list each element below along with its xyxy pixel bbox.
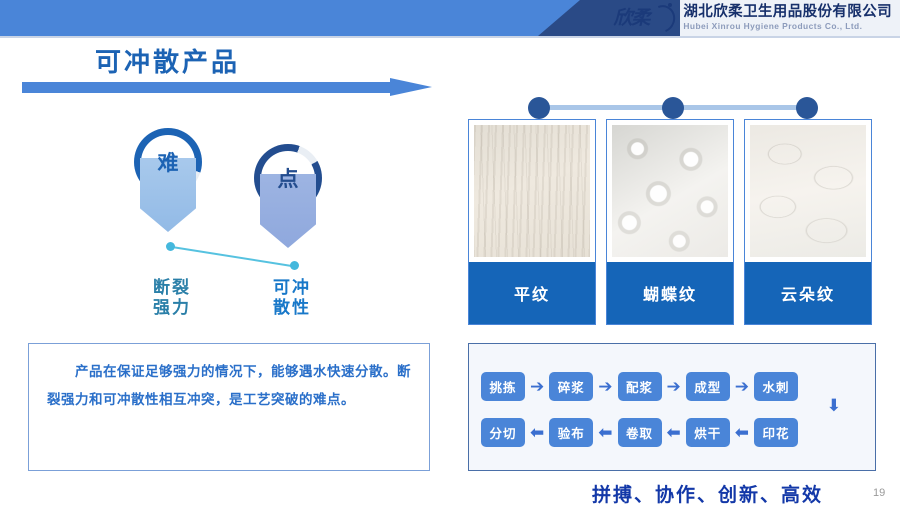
flow-node: 烘干 [686, 418, 730, 447]
label-line-1: 可冲 [248, 278, 336, 298]
flow-node: 碎浆 [549, 372, 593, 401]
flow-row-bottom: 分切 ⬅ 验布 ⬅ 卷取 ⬅ 烘干 ⬅ 印花 [481, 418, 798, 447]
fabric-photo [474, 125, 590, 257]
flow-node: 配浆 [618, 372, 662, 401]
connector-node-1 [528, 97, 550, 119]
slide: 欣柔 湖北欣柔卫生用品股份有限公司 Hubei Xinrou Hygiene P… [0, 0, 900, 510]
card-caption: 云朵纹 [745, 262, 871, 324]
product-card[interactable]: 云朵纹 [744, 119, 872, 325]
arrow-right-icon: ➔ [530, 378, 544, 395]
fabric-photo [750, 125, 866, 257]
flow-row-top: 挑拣 ➔ 碎浆 ➔ 配浆 ➔ 成型 ➔ 水刺 [481, 372, 798, 401]
badge-char-dian: 点 [254, 144, 322, 212]
connector-dot-right [290, 261, 299, 270]
connector-dot-left [166, 242, 175, 251]
company-name-cn: 湖北欣柔卫生用品股份有限公司 [683, 5, 892, 20]
logo-dot-icon [668, 3, 672, 7]
label-line-2: 散性 [248, 298, 336, 318]
page-title: 可冲散产品 [95, 42, 240, 79]
flow-node: 验布 [549, 418, 593, 447]
description-text: 产品在保证足够强力的情况下，能够遇水快速分散。断裂强力和可冲散性相互冲突，是工艺… [47, 358, 411, 413]
arrow-right-icon: ➔ [598, 378, 612, 395]
header-corner-stripes [0, 0, 120, 36]
flow-node: 分切 [481, 418, 525, 447]
product-cards: 平纹 蝴蝶纹 云朵纹 [468, 97, 876, 325]
company-name-en: Hubei Xinrou Hygiene Products Co., Ltd. [683, 22, 892, 31]
badge-char-nan: 难 [134, 128, 202, 196]
difficulty-infographic: 难 点 断裂 强力 可冲 散性 [120, 112, 360, 327]
company-logo-block: 欣柔 湖北欣柔卫生用品股份有限公司 Hubei Xinrou Hygiene P… [613, 0, 892, 36]
arrow-left-icon: ⬅ [735, 424, 749, 441]
arrow-left-icon: ⬅ [667, 424, 681, 441]
badge-pin-dian: 点 [260, 174, 316, 248]
flow-node: 印花 [754, 418, 798, 447]
logo-swirl-icon [645, 1, 680, 36]
brand-logo-icon: 欣柔 [613, 3, 675, 33]
footer-slogan: 拼搏、协作、创新、高效 [592, 480, 823, 507]
company-names: 湖北欣柔卫生用品股份有限公司 Hubei Xinrou Hygiene Prod… [683, 5, 892, 31]
arrow-left-icon: ⬅ [530, 424, 544, 441]
description-box: 产品在保证足够强力的情况下，能够遇水快速分散。断裂强力和可冲散性相互冲突，是工艺… [28, 343, 430, 471]
product-card[interactable]: 平纹 [468, 119, 596, 325]
label-line-2: 强力 [128, 298, 216, 318]
header-bar: 欣柔 湖北欣柔卫生用品股份有限公司 Hubei Xinrou Hygiene P… [0, 0, 900, 36]
connector-node-3 [796, 97, 818, 119]
flow-node: 卷取 [618, 418, 662, 447]
connector-line [166, 241, 296, 271]
product-card[interactable]: 蝴蝶纹 [606, 119, 734, 325]
page-number: 19 [873, 487, 885, 499]
header-underline [0, 36, 900, 38]
fabric-photo [612, 125, 728, 257]
label-duanlie-qiangli: 断裂 强力 [128, 278, 216, 318]
title-arrow-icon [22, 78, 432, 96]
card-connector-dots [528, 97, 818, 119]
label-kechongsanxing: 可冲 散性 [248, 278, 336, 318]
badge-pin-nan: 难 [140, 158, 196, 232]
card-caption: 平纹 [469, 262, 595, 324]
connector-node-2 [662, 97, 684, 119]
arrow-right-icon: ➔ [735, 378, 749, 395]
logo-text: 欣柔 [613, 4, 649, 32]
arrow-right-icon: ➔ [667, 378, 681, 395]
flow-node: 成型 [686, 372, 730, 401]
flow-node: 挑拣 [481, 372, 525, 401]
arrow-down-icon: ⬇ [827, 396, 841, 416]
flow-node: 水刺 [754, 372, 798, 401]
process-flow-box: 挑拣 ➔ 碎浆 ➔ 配浆 ➔ 成型 ➔ 水刺 ⬇ 分切 ⬅ 验布 ⬅ 卷取 ⬅ … [468, 343, 876, 471]
arrow-left-icon: ⬅ [598, 424, 612, 441]
label-line-1: 断裂 [128, 278, 216, 298]
card-caption: 蝴蝶纹 [607, 262, 733, 324]
